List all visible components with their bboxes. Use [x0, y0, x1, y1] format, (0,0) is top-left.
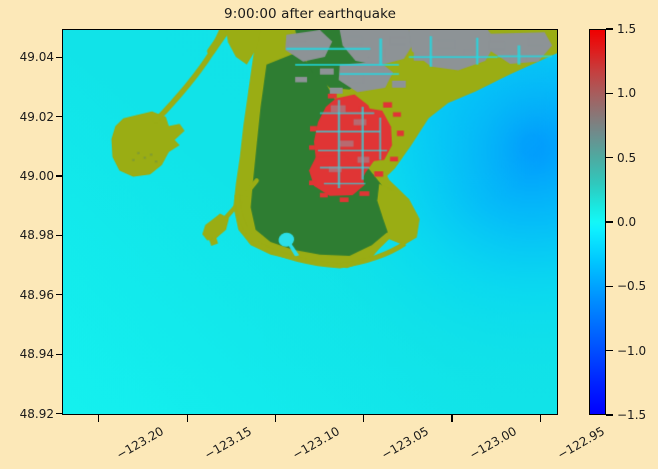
x-tick-label: −123.20 [114, 424, 166, 462]
x-tick-label: −122.95 [555, 424, 607, 462]
map-axes[interactable] [62, 29, 558, 415]
colorbar-tick-label: −0.5 [617, 279, 646, 293]
colorbar-tick-mark [606, 93, 613, 94]
x-tick-label: −123.10 [290, 424, 342, 462]
y-tick-label: 48.96 [20, 288, 54, 302]
y-tick-mark [56, 57, 63, 58]
y-tick-mark [56, 354, 63, 355]
colorbar-tick-mark [606, 157, 613, 158]
colorbar-tick-mark [606, 221, 613, 222]
y-tick-mark [56, 116, 63, 117]
y-tick-mark [56, 175, 63, 176]
colorbar-tick-label: 1.5 [617, 22, 636, 36]
colorbar-tick-label: −1.5 [617, 408, 646, 422]
x-tick-mark [275, 415, 276, 422]
x-tick-label: −123.05 [379, 424, 431, 462]
colorbar[interactable] [589, 29, 606, 415]
y-tick-mark [56, 294, 63, 295]
y-tick-label: 49.04 [20, 50, 54, 64]
page-title: 9:00:00 after earthquake [62, 6, 558, 22]
x-tick-label: −123.00 [467, 424, 519, 462]
colorbar-tick-label: 1.0 [617, 86, 636, 100]
y-tick-label: 49.02 [20, 110, 54, 124]
y-tick-label: 48.92 [20, 407, 54, 421]
y-tick-mark [56, 413, 63, 414]
colorbar-tick-label: 0.5 [617, 151, 636, 165]
x-tick-label: −123.15 [202, 424, 254, 462]
colorbar-tick-mark [606, 414, 613, 415]
y-tick-label: 48.98 [20, 228, 54, 242]
x-tick-mark [98, 415, 99, 422]
y-tick-label: 48.94 [20, 347, 54, 361]
heatmap-raster [63, 30, 557, 414]
x-tick-mark [540, 415, 541, 422]
colorbar-tick-mark [606, 350, 613, 351]
colorbar-tick-mark [606, 28, 613, 29]
x-tick-mark [363, 415, 364, 422]
colorbar-tick-label: 0.0 [617, 215, 636, 229]
figure-canvas: 9:00:00 after earthquake 48.9248.9448.96… [0, 0, 658, 469]
y-tick-label: 49.00 [20, 169, 54, 183]
x-tick-mark [451, 415, 452, 422]
y-tick-mark [56, 235, 63, 236]
colorbar-tick-label: −1.0 [617, 344, 646, 358]
x-tick-mark [187, 415, 188, 422]
colorbar-tick-mark [606, 286, 613, 287]
